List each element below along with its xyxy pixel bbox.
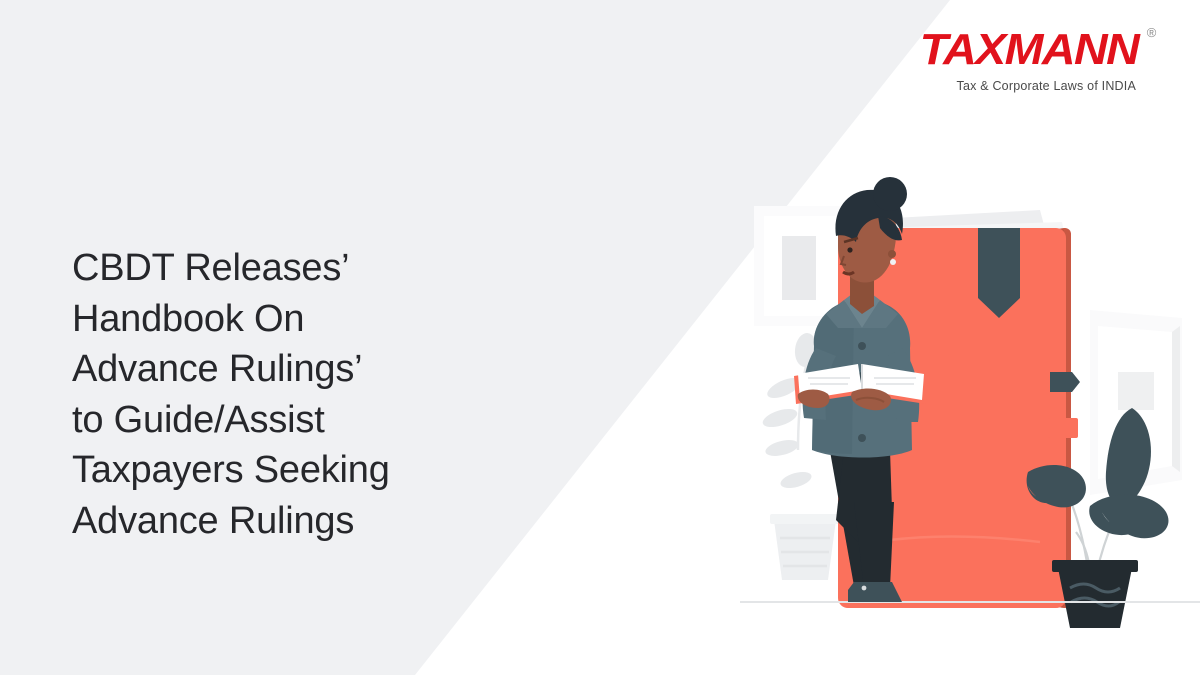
slide-canvas: TAXMANN ® Tax & Corporate Laws of INDIA …	[0, 0, 1200, 675]
headline-line-3: Advance Rulings’	[72, 344, 502, 395]
logo-wordmark: TAXMANN ®	[919, 28, 1138, 72]
leafy-plant-pot-background	[770, 514, 840, 580]
taxmann-logo[interactable]: TAXMANN ® Tax & Corporate Laws of INDIA	[932, 28, 1138, 93]
headline-line-5: Taxpayers Seeking	[72, 445, 502, 496]
hair-bun	[873, 177, 907, 211]
headline-line-1: CBDT Releases’	[72, 243, 502, 294]
page-title: CBDT Releases’ Handbook On Advance Rulin…	[72, 243, 502, 546]
shirt-button	[858, 342, 866, 350]
hand-left	[798, 390, 830, 409]
shirt-button	[858, 434, 866, 442]
logo-wordmark-text: TAXMANN	[919, 25, 1138, 74]
registered-trademark-icon: ®	[1146, 26, 1156, 39]
headline-line-2: Handbook On	[72, 294, 502, 345]
plant-pot	[1058, 568, 1132, 628]
logo-tagline: Tax & Corporate Laws of INDIA	[932, 79, 1136, 93]
page-tab-slate	[1050, 372, 1080, 392]
page-tab-coral	[1048, 418, 1078, 438]
woman-reading-book-illustration	[740, 150, 1200, 650]
headline-line-4: to Guide/Assist	[72, 395, 502, 446]
headline-line-6: Advance Rulings	[72, 496, 502, 547]
eye	[847, 247, 852, 252]
earring	[890, 259, 896, 265]
plant-leaf-right	[1089, 495, 1168, 539]
